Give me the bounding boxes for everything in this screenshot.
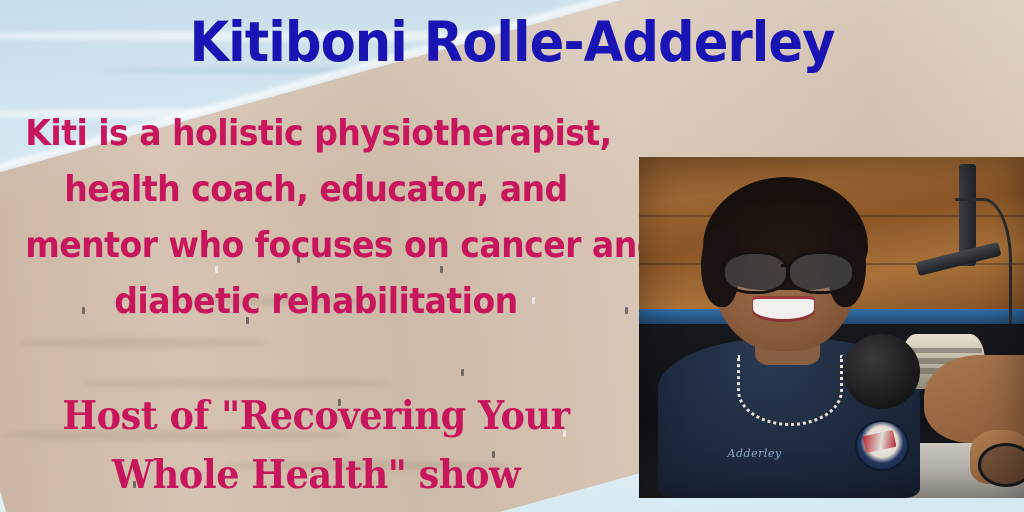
bio-text-block: Kiti is a holistic physiotherapist, heal… (25, 106, 606, 331)
bio-line: health coach, educator, and (25, 162, 606, 218)
show-title-line: Host of "Recovering Your (19, 387, 613, 446)
poster-headline: Kitiboni Rolle-Adderley (36, 14, 988, 72)
show-title-line: Whole Health" show (19, 446, 613, 505)
show-title-block: Host of "Recovering Your Whole Health" s… (19, 387, 613, 504)
bio-line: mentor who focuses on cancer and (25, 218, 606, 274)
photo-vignette (639, 157, 1024, 498)
bio-line: diabetic rehabilitation (25, 274, 606, 330)
bio-line: Kiti is a holistic physiotherapist, (25, 106, 606, 162)
poster-canvas: Kitiboni Rolle-Adderley Kiti is a holist… (0, 0, 1024, 512)
host-portrait-photo: Adderley (639, 157, 1024, 498)
